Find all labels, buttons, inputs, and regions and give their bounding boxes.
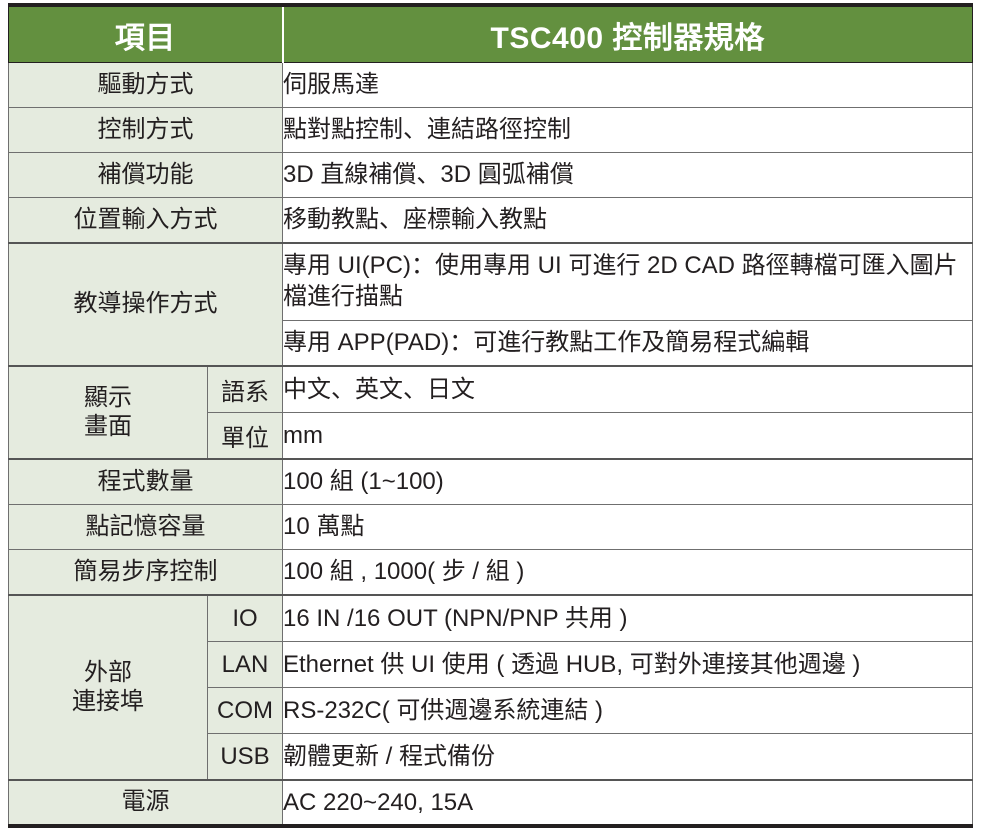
- row-label-compensation: 補償功能: [9, 153, 283, 198]
- sub-label-com: COM: [208, 688, 283, 734]
- row-value-drive-method: 伺服馬達: [283, 63, 973, 108]
- sub-label-unit: 單位: [208, 413, 283, 460]
- row-value-io: 16 IN /16 OUT (NPN/PNP 共用 ): [283, 595, 973, 642]
- row-value-teaching-app-pad: 專用 APP(PAD)：可進行教點工作及簡易程式編輯: [283, 321, 973, 367]
- sub-label-io: IO: [208, 595, 283, 642]
- table-header-row: 項目 TSC400 控制器規格: [9, 5, 973, 63]
- sub-label-language: 語系: [208, 366, 283, 413]
- sub-label-lan: LAN: [208, 642, 283, 688]
- row-value-position-input: 移動教點、座標輸入教點: [283, 198, 973, 244]
- table-row: 驅動方式 伺服馬達: [9, 63, 973, 108]
- header-spec-column: TSC400 控制器規格: [283, 5, 973, 63]
- row-label-position-input: 位置輸入方式: [9, 198, 283, 244]
- table-row: 顯示 畫面 語系 中文、英文、日文: [9, 366, 973, 413]
- table-row: 程式數量 100 組 (1~100): [9, 459, 973, 505]
- row-value-com: RS-232C( 可供週邊系統連結 ): [283, 688, 973, 734]
- display-label-line1: 顯示: [84, 384, 132, 411]
- row-value-teaching-ui-pc: 專用 UI(PC)：使用專用 UI 可進行 2D CAD 路徑轉檔可匯入圖片檔進…: [283, 243, 973, 321]
- specification-sheet: 項目 TSC400 控制器規格 驅動方式 伺服馬達 控制方式 點對點控制、連結路…: [8, 3, 972, 802]
- ports-label-line2: 連接埠: [72, 688, 144, 715]
- row-value-lan: Ethernet 供 UI 使用 ( 透過 HUB, 可對外連接其他週邊 ): [283, 642, 973, 688]
- row-label-teaching-operation: 教導操作方式: [9, 243, 283, 366]
- row-value-language: 中文、英文、日文: [283, 366, 973, 413]
- row-label-display-screen: 顯示 畫面: [9, 366, 208, 459]
- row-value-power: AC 220~240, 15A: [283, 780, 973, 826]
- spec-table: 項目 TSC400 控制器規格 驅動方式 伺服馬達 控制方式 點對點控制、連結路…: [8, 3, 973, 828]
- row-value-compensation: 3D 直線補償、3D 圓弧補償: [283, 153, 973, 198]
- row-label-control-method: 控制方式: [9, 108, 283, 153]
- sub-label-usb: USB: [208, 734, 283, 781]
- row-label-point-memory: 點記憶容量: [9, 505, 283, 550]
- row-value-usb: 韌體更新 / 程式備份: [283, 734, 973, 781]
- row-label-external-ports: 外部 連接埠: [9, 595, 208, 780]
- table-row: 簡易步序控制 100 組 , 1000( 步 / 組 ): [9, 550, 973, 596]
- row-label-drive-method: 驅動方式: [9, 63, 283, 108]
- row-value-control-method: 點對點控制、連結路徑控制: [283, 108, 973, 153]
- row-label-step-sequence: 簡易步序控制: [9, 550, 283, 596]
- table-row: 補償功能 3D 直線補償、3D 圓弧補償: [9, 153, 973, 198]
- table-row: 電源 AC 220~240, 15A: [9, 780, 973, 826]
- table-row: 教導操作方式 專用 UI(PC)：使用專用 UI 可進行 2D CAD 路徑轉檔…: [9, 243, 973, 321]
- row-value-step-sequence: 100 組 , 1000( 步 / 組 ): [283, 550, 973, 596]
- row-value-point-memory: 10 萬點: [283, 505, 973, 550]
- display-label-line2: 畫面: [84, 413, 132, 440]
- row-value-program-count: 100 組 (1~100): [283, 459, 973, 505]
- header-item-column: 項目: [9, 5, 283, 63]
- row-label-program-count: 程式數量: [9, 459, 283, 505]
- table-row: 控制方式 點對點控制、連結路徑控制: [9, 108, 973, 153]
- table-row: 點記憶容量 10 萬點: [9, 505, 973, 550]
- row-label-power: 電源: [9, 780, 283, 826]
- ports-label-line1: 外部: [84, 659, 132, 686]
- row-value-unit: mm: [283, 413, 973, 460]
- table-row: 位置輸入方式 移動教點、座標輸入教點: [9, 198, 973, 244]
- table-row: 外部 連接埠 IO 16 IN /16 OUT (NPN/PNP 共用 ): [9, 595, 973, 642]
